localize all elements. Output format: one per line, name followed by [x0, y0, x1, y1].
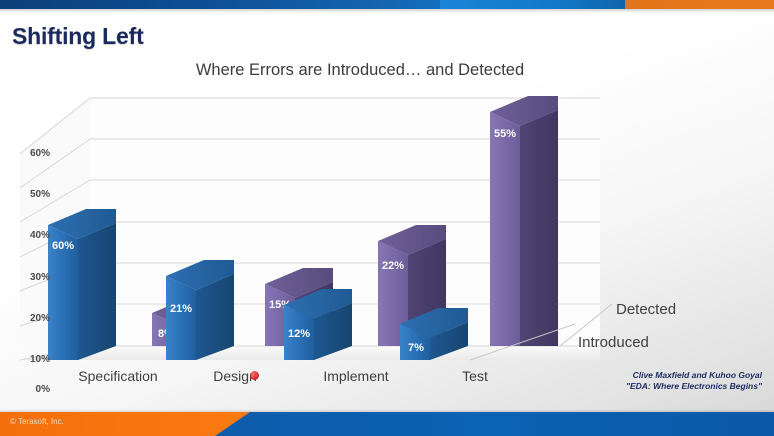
ytick-30: 30%	[6, 272, 50, 283]
attribution: Clive Maxfield and Kuhoo Goyal "EDA: Whe…	[626, 370, 762, 392]
bar-label: 60%	[52, 240, 74, 252]
top-bar-shadow	[0, 9, 774, 13]
bar-label: 22%	[382, 260, 404, 272]
chart-title: Where Errors are Introduced… and Detecte…	[0, 61, 720, 80]
bar-label: 7%	[408, 342, 424, 354]
bar-introduced-specification[interactable]: 60%	[48, 209, 116, 360]
ytick-50: 50%	[6, 189, 50, 200]
top-bar-blue-light-segment	[440, 0, 632, 9]
top-bar-blue-dark-segment	[0, 0, 452, 9]
bar-introduced-design[interactable]: 21%	[166, 260, 234, 360]
series-label-detected: Detected	[616, 301, 676, 318]
attribution-source: "EDA: Where Electronics Begins"	[626, 381, 762, 392]
bottom-accent-bar: © Terasoft, Inc.	[0, 412, 774, 436]
bar-label: 55%	[494, 128, 516, 140]
attribution-authors: Clive Maxfield and Kuhoo Goyal	[626, 370, 762, 381]
top-bar-orange-segment	[625, 0, 774, 9]
slide-canvas: Shifting Left Where Errors are Introduce…	[0, 0, 774, 436]
bar-detected-test[interactable]: 55%	[490, 96, 558, 346]
copyright-text: © Terasoft, Inc.	[10, 417, 64, 426]
bar-label: 12%	[288, 328, 310, 340]
chart-plot-area: 8% 60% 15% 21%	[0, 84, 660, 364]
xlabel-test: Test	[405, 368, 545, 384]
ytick-40: 40%	[6, 230, 50, 241]
series-label-introduced: Introduced	[578, 334, 649, 351]
top-accent-bar	[0, 0, 774, 9]
ytick-0: 0%	[6, 384, 50, 395]
chart-svg: 8% 60% 15% 21%	[0, 84, 660, 364]
ytick-20: 20%	[6, 313, 50, 324]
ytick-10: 10%	[6, 354, 50, 365]
mouse-cursor-icon	[250, 371, 259, 380]
xlabel-design: Design	[165, 368, 305, 384]
bar-label: 21%	[170, 303, 192, 315]
ytick-60: 60%	[6, 148, 50, 159]
bottom-bar-blue-segment	[215, 412, 774, 436]
slide-title: Shifting Left	[12, 23, 144, 50]
